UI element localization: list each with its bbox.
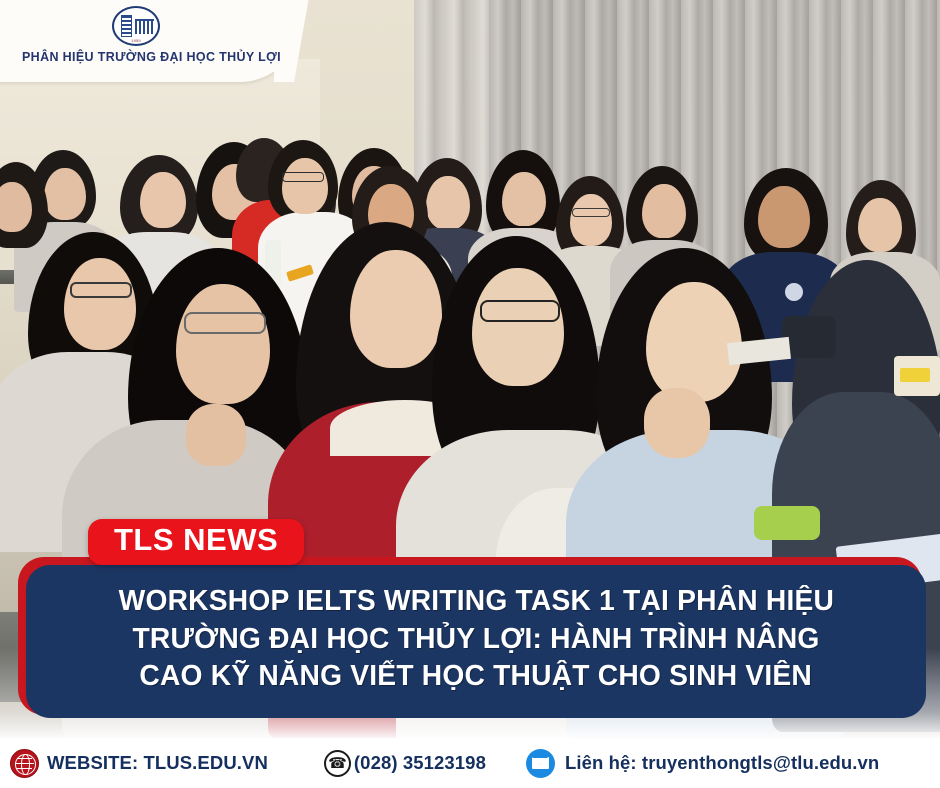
photo-person-mid-white-glasses: [282, 172, 324, 182]
photo-person-back-10-face: [758, 186, 810, 248]
headline-line-1: WORKSHOP IELTS WRITING TASK 1 TẠI PHÂN H…: [118, 583, 833, 621]
logo-year: 1959: [114, 38, 158, 43]
phone-icon: ☎: [324, 750, 351, 777]
photo-person-back-9-face: [642, 184, 686, 238]
photo-snack-label: [900, 368, 930, 382]
photo-green-item: [754, 506, 820, 540]
photo-person-back-8-face: [570, 194, 612, 246]
tls-news-badge: TLS NEWS: [88, 519, 304, 565]
photo-person-front-3-face: [350, 250, 442, 368]
logo-dam-icon: [135, 19, 154, 34]
phone-text: (028) 35123198: [354, 752, 486, 774]
globe-latitude-2: [17, 758, 32, 759]
photo-person-back-11-face: [858, 198, 902, 252]
contact-footer: WEBSITE: TLUS.EDU.VN ☎ (028) 35123198 Li…: [0, 738, 940, 788]
photo-person-front-1-face: [64, 258, 136, 350]
photo-person-front-2-glasses: [184, 312, 266, 334]
tlu-logo-icon: 1959: [112, 6, 160, 46]
headline-line-3: CAO KỸ NĂNG VIẾT HỌC THUẬT CHO SINH VIÊN: [140, 658, 813, 696]
envelope-icon: [526, 749, 555, 778]
title-banner: WORKSHOP IELTS WRITING TASK 1 TẠI PHÂN H…: [26, 565, 926, 718]
globe-latitude-3: [17, 768, 32, 769]
photo-person-front-4-glasses: [480, 300, 560, 322]
organization-name: PHÂN HIỆU TRƯỜNG ĐẠI HỌC THỦY LỢI: [22, 50, 281, 64]
photo-person-front-5-hand: [644, 388, 710, 458]
photo-person-back-10-logo: [785, 283, 803, 301]
footer-phone[interactable]: ☎ (028) 35123198: [324, 750, 486, 777]
photo-person-back-7-face: [502, 172, 546, 226]
photo-person-front-2-face: [176, 284, 270, 404]
photo-person-front-5-face: [646, 282, 742, 402]
headline-line-2: TRƯỜNG ĐẠI HỌC THỦY LỢI: HÀNH TRÌNH NÂNG: [132, 621, 819, 659]
photo-person-front-2-hand: [186, 404, 246, 466]
photo-person-front-4-face: [472, 268, 564, 386]
photo-person-back-1-face: [44, 168, 86, 220]
photo-person-back-8-glasses: [572, 208, 610, 217]
globe-icon: [10, 749, 39, 778]
logo-building-icon: [121, 15, 132, 37]
globe-latitude-1: [15, 763, 34, 764]
tlu-logo: 1959: [112, 6, 164, 48]
news-poster: 1959 PHÂN HIỆU TRƯỜNG ĐẠI HỌC THỦY LỢI T…: [0, 0, 940, 788]
footer-email[interactable]: Liên hệ: truyenthongtls@tlu.edu.vn: [526, 749, 879, 778]
website-text: WEBSITE: TLUS.EDU.VN: [47, 752, 268, 774]
photo-person-mid-white-face: [282, 158, 328, 214]
photo-person-back-2-face: [140, 172, 186, 228]
email-text: Liên hệ: truyenthongtls@tlu.edu.vn: [565, 752, 879, 774]
footer-website[interactable]: WEBSITE: TLUS.EDU.VN: [10, 749, 268, 778]
photo-person-back-6-face: [426, 176, 470, 230]
photo-person-front-1-glasses: [70, 282, 132, 298]
